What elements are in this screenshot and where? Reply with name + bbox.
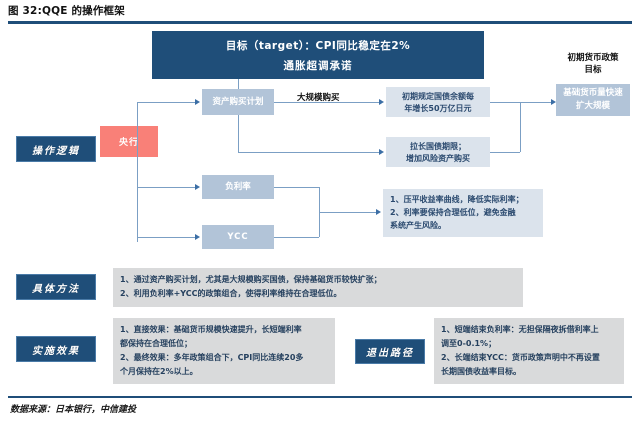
- stage-label-implementation-effects: 实施效果: [16, 336, 96, 362]
- caption-early-policy-goal-line2: 目标: [584, 65, 601, 75]
- connector-cb-to-plan: [137, 102, 195, 103]
- arrow-cb-to-negative-rate: [195, 184, 200, 190]
- panel-duration-risk-line2: 增加风险资产购买: [389, 153, 487, 165]
- panel-duration-risk: 拉长国债期限； 增加风险资产购买: [386, 137, 490, 167]
- caption-early-policy-goal: 初期货币政策 目标: [553, 53, 633, 77]
- goal-banner-line1: 目标（target）：CPI同比稳定在2%: [226, 38, 410, 53]
- panel-jgb-growth-line2: 年增长50万亿日元: [389, 103, 487, 115]
- node-asset-purchase-plan: 资产购买计划: [202, 89, 274, 115]
- panel-exit-line1: 1、短端结束负利率：无担保隔夜拆借利率上: [441, 323, 617, 337]
- arrow-cb-to-plan: [195, 99, 200, 105]
- panel-jgb-growth: 初期规定国债余额每 年增长50万亿日元: [386, 87, 490, 117]
- arrow-merge-to-goal: [551, 99, 556, 105]
- footer-divider: [8, 396, 632, 398]
- panel-rate-policy-line1: 1、压平收益率曲线，降低实际利率；: [390, 194, 536, 207]
- panel-exit-line4: 长期国债收益率目标。: [441, 365, 617, 379]
- stage-label-operating-logic: 操作逻辑: [16, 136, 96, 162]
- node-ycc: YCC: [202, 225, 274, 249]
- node-central-bank: 央行: [100, 126, 158, 157]
- panel-methods-line1: 1、通过资产购买计划，尤其是大规模购买国债，保持基础货币较快扩张；: [120, 273, 516, 287]
- connector-merge-to-rate-panel: [319, 212, 376, 213]
- connector-plan-drop: [238, 115, 239, 152]
- connector-merge-to-goal: [520, 102, 551, 103]
- figure-title: 图 32:QQE 的操作框架: [8, 3, 125, 18]
- connector-ycc-out: [274, 237, 319, 238]
- panel-exit-path: 1、短端结束负利率：无担保隔夜拆借利率上 调至0-0.1%； 2、长端结束YCC…: [434, 318, 624, 384]
- goal-banner: 目标（target）：CPI同比稳定在2% 通胀超调承诺: [152, 31, 484, 79]
- arrow-merge-to-rate-panel: [376, 209, 381, 215]
- panel-exit-line2: 调至0-0.1%；: [441, 337, 617, 351]
- arrow-cb-to-ycc: [195, 234, 200, 240]
- stage-label-specific-methods: 具体方法: [16, 274, 96, 300]
- figure-canvas: 图 32:QQE 的操作框架 目标（target）：CPI同比稳定在2% 通胀超…: [0, 0, 640, 425]
- stage-label-exit-path: 退出路径: [355, 339, 425, 364]
- connector-right-merge: [520, 102, 521, 152]
- panel-rate-policy: 1、压平收益率曲线，降低实际利率； 2、利率要保持合理低位，避免金融 系统产生风…: [383, 189, 543, 237]
- goal-banner-line2: 通胀超调承诺: [284, 58, 353, 73]
- connector-plan-to-jgb: [274, 102, 379, 103]
- arrow-plan-to-duration: [379, 149, 384, 155]
- panel-exit-line3: 2、长端结束YCC：货币政策声明中不再设置: [441, 351, 617, 365]
- panel-jgb-growth-line1: 初期规定国债余额每: [389, 91, 487, 103]
- connector-cb-to-ycc: [137, 237, 195, 238]
- connector-cb-to-negative-rate: [137, 187, 195, 188]
- node-monetary-base-goal: 基础货币量快速扩大规模: [556, 84, 630, 116]
- connector-plan-to-duration: [238, 152, 379, 153]
- caption-early-policy-goal-line1: 初期货币政策: [567, 53, 618, 63]
- connector-banner-to-plan: [238, 79, 239, 89]
- node-monetary-base-goal-label: 基础货币量快速扩大规模: [560, 87, 626, 113]
- connector-jgb-out: [490, 102, 520, 103]
- connector-cb-trunk: [137, 102, 138, 242]
- panel-implementation-effects: 1、直接效果：基础货币规模快速提升，长短端利率 都保持在合理低位； 2、最终效果…: [113, 318, 335, 384]
- connector-negrate-out: [274, 187, 319, 188]
- panel-effects-line4: 个月保持在2%以上。: [120, 365, 328, 379]
- panel-rate-policy-line2: 2、利率要保持合理低位，避免金融: [390, 207, 536, 220]
- node-negative-rate: 负利率: [202, 175, 274, 199]
- panel-methods-line2: 2、利用负利率+YCC的政策组合，使得利率维持在合理低位。: [120, 287, 516, 301]
- panel-effects-line3: 2、最终效果：多年政策组合下，CPI同比连续20多: [120, 351, 328, 365]
- panel-effects-line2: 都保持在合理低位；: [120, 337, 328, 351]
- panel-duration-risk-line1: 拉长国债期限；: [389, 141, 487, 153]
- panel-specific-methods: 1、通过资产购买计划，尤其是大规模购买国债，保持基础货币较快扩张； 2、利用负利…: [113, 268, 523, 307]
- connector-duration-out: [490, 152, 520, 153]
- panel-effects-line1: 1、直接效果：基础货币规模快速提升，长短端利率: [120, 323, 328, 337]
- panel-rate-policy-line3: 系统产生风险。: [390, 220, 536, 233]
- arrow-plan-to-jgb: [379, 99, 384, 105]
- title-divider: [8, 21, 632, 24]
- caption-large-scale-purchase: 大规模购买: [297, 93, 340, 105]
- source-note: 数据来源：日本银行，中信建投: [10, 402, 136, 415]
